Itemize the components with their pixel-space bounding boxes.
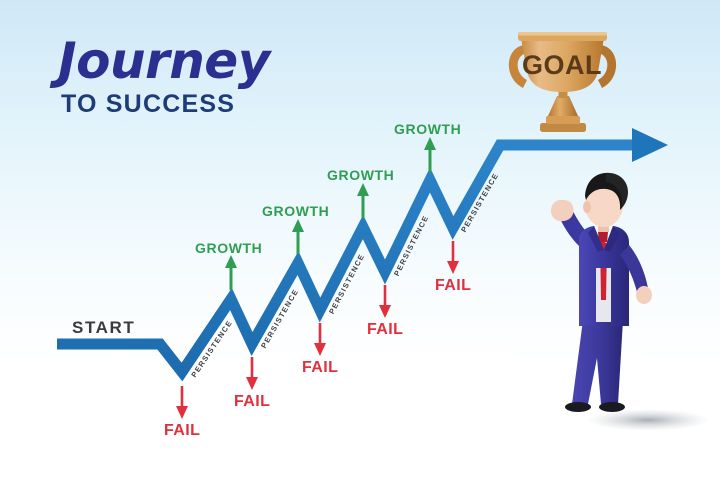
journey-arrow-path <box>57 128 668 372</box>
trophy-base <box>540 123 586 132</box>
label-fail-1: FAIL <box>164 422 200 440</box>
growth-arrowhead-2 <box>292 219 304 232</box>
fail-arrowhead-2 <box>246 377 258 390</box>
trophy-goal: GOAL <box>509 32 616 132</box>
fail-arrowhead-1 <box>176 406 188 419</box>
label-start: START <box>72 318 135 338</box>
trophy-base-upper <box>546 116 580 124</box>
infographic-canvas: GOAL <box>0 0 720 478</box>
ear <box>583 201 591 213</box>
label-growth-2: GROWTH <box>262 203 329 219</box>
figure-shadow <box>586 409 710 431</box>
label-growth-4: GROWTH <box>394 121 461 137</box>
trophy-stem <box>548 96 578 116</box>
fail-arrowhead-3 <box>314 343 326 356</box>
lowered-hand <box>636 286 652 304</box>
growth-arrowhead-4 <box>424 137 436 150</box>
fail-arrowhead-4 <box>379 305 391 318</box>
title-main: Journey <box>58 36 270 86</box>
label-fail-5: FAIL <box>435 277 471 295</box>
label-fail-2: FAIL <box>234 393 270 411</box>
arrow-head <box>632 128 668 162</box>
growth-arrowhead-1 <box>225 255 237 268</box>
shoe-left <box>565 402 591 412</box>
label-growth-3: GROWTH <box>327 167 394 183</box>
trophy-goal-text: GOAL <box>522 50 602 80</box>
trophy-rim-highlight <box>518 32 607 36</box>
trousers <box>572 320 623 404</box>
growth-arrowhead-3 <box>357 183 369 196</box>
title-sub: TO SUCCESS <box>61 92 270 117</box>
fail-arrowhead-5 <box>447 261 459 274</box>
label-fail-3: FAIL <box>302 359 338 377</box>
page-title: Journey TO SUCCESS <box>58 36 270 117</box>
label-fail-4: FAIL <box>367 321 403 339</box>
businessman-figure <box>551 173 710 431</box>
label-growth-1: GROWTH <box>195 240 262 256</box>
shoe-right <box>599 402 625 412</box>
raised-fist <box>551 200 574 221</box>
